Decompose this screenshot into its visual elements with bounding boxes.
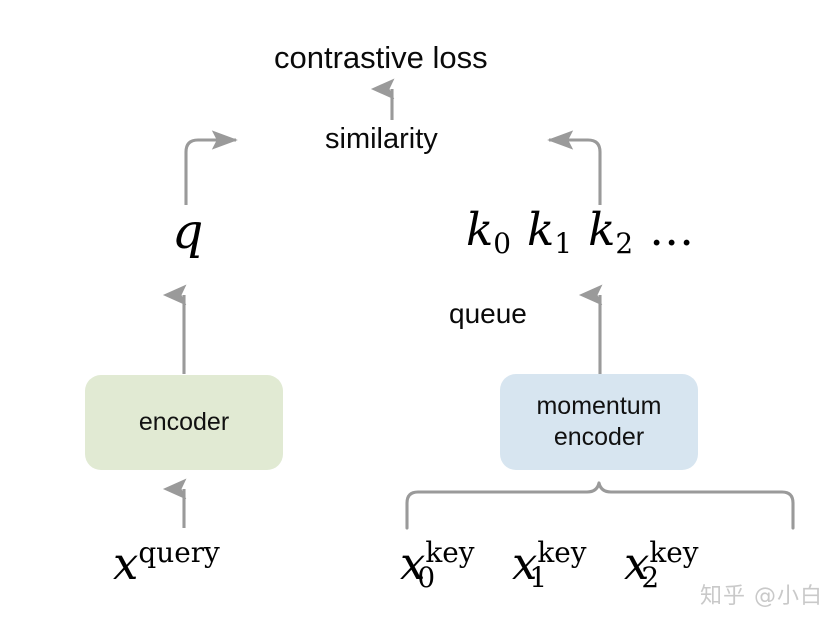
input-x-key-0-subscript: 0 bbox=[417, 561, 435, 594]
key-symbol-1: k1 bbox=[527, 203, 572, 256]
input-x-query-superscript: query bbox=[138, 536, 219, 569]
key-representation-symbols: k0k1k2… bbox=[466, 207, 696, 252]
encoder-node[interactable]: encoder bbox=[85, 375, 283, 470]
input-x-key-1-subscript: 1 bbox=[529, 561, 547, 594]
watermark: 知乎 @小白 bbox=[700, 578, 823, 610]
query-representation-symbol: q bbox=[172, 207, 203, 256]
brace-keys-to-momentum-encoder bbox=[407, 483, 793, 528]
diagram-canvas: contrastive loss similarity q k0k1k2… qu… bbox=[0, 0, 826, 634]
arrow-k-to-similarity bbox=[549, 140, 600, 205]
input-x-key-2: xkey2 bbox=[624, 541, 659, 586]
contrastive-loss-label: contrastive loss bbox=[274, 42, 488, 73]
key-symbol-1-subscript: 1 bbox=[554, 227, 572, 260]
input-x-key-1: xkey1 bbox=[512, 541, 547, 586]
similarity-label: similarity bbox=[325, 125, 438, 154]
arrow-q-to-similarity bbox=[186, 140, 236, 205]
key-symbols-ellipsis: … bbox=[649, 203, 696, 256]
input-x-key-2-subscript: 2 bbox=[641, 561, 659, 594]
input-x-query: xquery bbox=[113, 541, 220, 586]
encoder-node-label: encoder bbox=[139, 407, 229, 438]
key-symbol-2-subscript: 2 bbox=[615, 227, 633, 260]
queue-label: queue bbox=[449, 300, 527, 328]
key-symbol-0: k0 bbox=[466, 203, 511, 256]
input-x-key-0: xkey0 bbox=[400, 541, 435, 586]
momentum-encoder-node-label: momentumencoder bbox=[536, 391, 661, 454]
momentum-encoder-node[interactable]: momentumencoder bbox=[500, 374, 698, 470]
key-symbol-2: k2 bbox=[588, 203, 633, 256]
momentum-encoder-label-line2: encoder bbox=[554, 423, 644, 451]
momentum-encoder-label-line1: momentum bbox=[536, 392, 661, 420]
key-symbol-0-subscript: 0 bbox=[493, 227, 511, 260]
